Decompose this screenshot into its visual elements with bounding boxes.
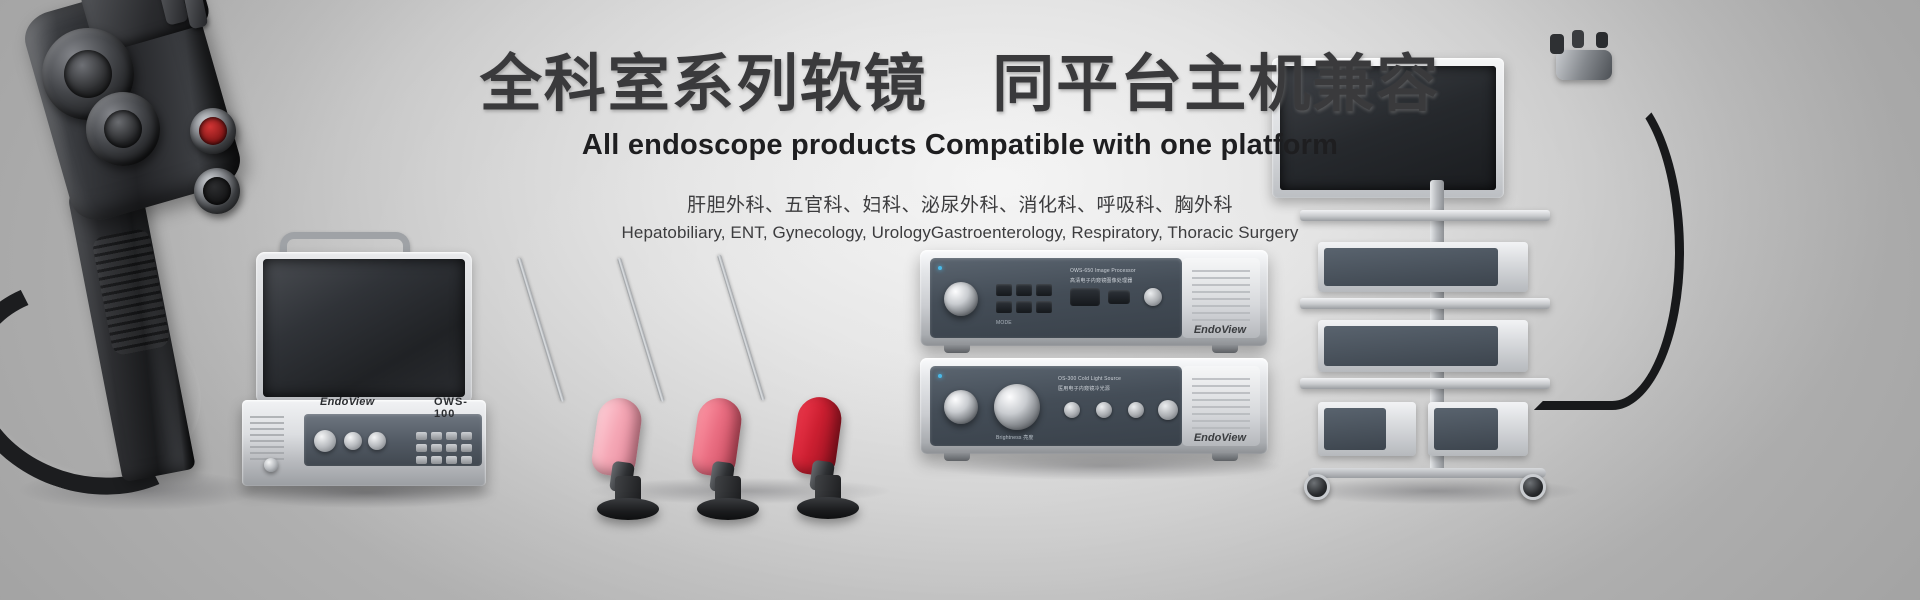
light-source-output-port bbox=[1158, 400, 1178, 420]
instrument-shaft bbox=[717, 254, 765, 401]
workstation-display bbox=[263, 259, 465, 397]
workstation-base-unit: EndoView OWS-100 bbox=[242, 400, 486, 486]
workstation-monitor-image: EndoView OWS-100 bbox=[236, 232, 486, 492]
workstation-knob-one bbox=[314, 430, 336, 452]
cart-caster-left bbox=[1304, 474, 1330, 500]
cart-device-one bbox=[1318, 242, 1528, 292]
light-source-button-1 bbox=[1064, 402, 1080, 418]
light-source-foot-right bbox=[1212, 453, 1238, 461]
specialties-chinese: 肝胆外科、五官科、妇科、泌尿外科、消化科、呼吸科、胸外科 bbox=[0, 190, 1920, 217]
light-source-model-label-cn: 医用电子内窥镜冷光源 bbox=[1058, 385, 1110, 392]
image-processor-unit: OWS-650 Image Processor 高清电子内窥镜图像处理器 MOD… bbox=[920, 250, 1268, 346]
processor-key-3 bbox=[1036, 284, 1052, 296]
processor-foot-left bbox=[944, 345, 970, 353]
page-title: 全科室系列软镜 同平台主机兼容 bbox=[0, 52, 1920, 119]
specialties-english: Hepatobiliary, ENT, Gynecology, UrologyG… bbox=[0, 223, 1920, 243]
processor-power-led bbox=[938, 266, 942, 270]
light-source-brightness-knob bbox=[994, 384, 1040, 430]
processor-main-knob bbox=[944, 282, 978, 316]
cart-caster-right bbox=[1520, 474, 1546, 500]
processor-key-6 bbox=[1036, 301, 1052, 313]
cart-base-frame bbox=[1308, 468, 1546, 478]
processor-vent-slots bbox=[1192, 270, 1250, 326]
light-source-knob-caption: Brightness 亮度 bbox=[996, 434, 1034, 441]
cart-device-one-face bbox=[1324, 248, 1498, 286]
cart-device-two bbox=[1318, 320, 1528, 372]
light-source-front-face: OS-300 Cold Light Source 医用电子内窥镜冷光源 Brig… bbox=[930, 366, 1182, 446]
workstation-control-panel: EndoView OWS-100 bbox=[304, 414, 482, 466]
processor-key-1 bbox=[996, 284, 1012, 296]
instrument-shaft bbox=[617, 257, 665, 402]
rigid-instrument-red bbox=[715, 255, 845, 488]
light-source-standby-knob bbox=[944, 390, 978, 424]
light-source-unit: OS-300 Cold Light Source 医用电子内窥镜冷光源 Brig… bbox=[920, 358, 1268, 454]
cart-device-three-face bbox=[1324, 408, 1386, 450]
workstation-knob-two bbox=[344, 432, 362, 450]
processor-round-button bbox=[1144, 288, 1162, 306]
light-source-brand-logo: EndoView bbox=[1194, 432, 1246, 444]
workstation-brand-label: EndoView bbox=[320, 396, 375, 408]
workstation-vent bbox=[250, 416, 284, 460]
cart-shelf-lower bbox=[1300, 378, 1550, 389]
light-source-power-led bbox=[938, 374, 942, 378]
instrument-shaft bbox=[517, 257, 565, 402]
banner-text-block: 全科室系列软镜 同平台主机兼容 All endoscope products C… bbox=[0, 52, 1920, 243]
light-source-foot-left bbox=[944, 453, 970, 461]
processor-key-caption: MODE bbox=[996, 320, 1012, 326]
processor-stack-image: OWS-650 Image Processor 高清电子内窥镜图像处理器 MOD… bbox=[920, 250, 1280, 460]
light-source-button-2 bbox=[1096, 402, 1112, 418]
cart-shelf-middle bbox=[1300, 298, 1550, 309]
processor-front-face: OWS-650 Image Processor 高清电子内窥镜图像处理器 MOD… bbox=[930, 258, 1182, 338]
workstation-power-indicator bbox=[264, 458, 278, 472]
workstation-keypad bbox=[416, 432, 472, 464]
processor-model-label: OWS-650 Image Processor bbox=[1070, 268, 1136, 274]
cart-device-two-face bbox=[1324, 326, 1498, 366]
processor-key-5 bbox=[1016, 301, 1032, 313]
headline-part-two: 同平台主机兼容 bbox=[992, 50, 1440, 119]
light-source-vent-slots bbox=[1192, 378, 1250, 434]
cart-scope-knob-b bbox=[1572, 30, 1584, 48]
instrument-base bbox=[697, 498, 759, 520]
processor-key-2 bbox=[1016, 284, 1032, 296]
cart-scope-knob-c bbox=[1596, 32, 1608, 48]
instrument-base bbox=[797, 497, 859, 519]
cart-device-four bbox=[1428, 402, 1528, 456]
processor-port-panel bbox=[1070, 288, 1100, 306]
light-source-button-3 bbox=[1128, 402, 1144, 418]
page-subtitle: All endoscope products Compatible with o… bbox=[0, 129, 1920, 162]
promotional-banner: EndoView OWS-100 bbox=[0, 0, 1920, 600]
processor-foot-right bbox=[1212, 345, 1238, 353]
cart-scope-knob-a bbox=[1550, 34, 1564, 54]
processor-usb-port bbox=[1108, 290, 1130, 304]
headline-part-one: 全科室系列软镜 bbox=[480, 50, 928, 119]
instrument-base bbox=[597, 498, 659, 520]
processor-key-4 bbox=[996, 301, 1012, 313]
workstation-model-label: OWS-100 bbox=[434, 396, 482, 420]
workstation-screen-bezel bbox=[256, 252, 472, 404]
workstation-knob-three bbox=[368, 432, 386, 450]
light-source-model-label: OS-300 Cold Light Source bbox=[1058, 376, 1121, 382]
cart-device-four-face bbox=[1434, 408, 1498, 450]
processor-brand-logo: EndoView bbox=[1194, 324, 1246, 336]
cart-device-three bbox=[1318, 402, 1416, 456]
processor-model-label-cn: 高清电子内窥镜图像处理器 bbox=[1070, 277, 1132, 284]
